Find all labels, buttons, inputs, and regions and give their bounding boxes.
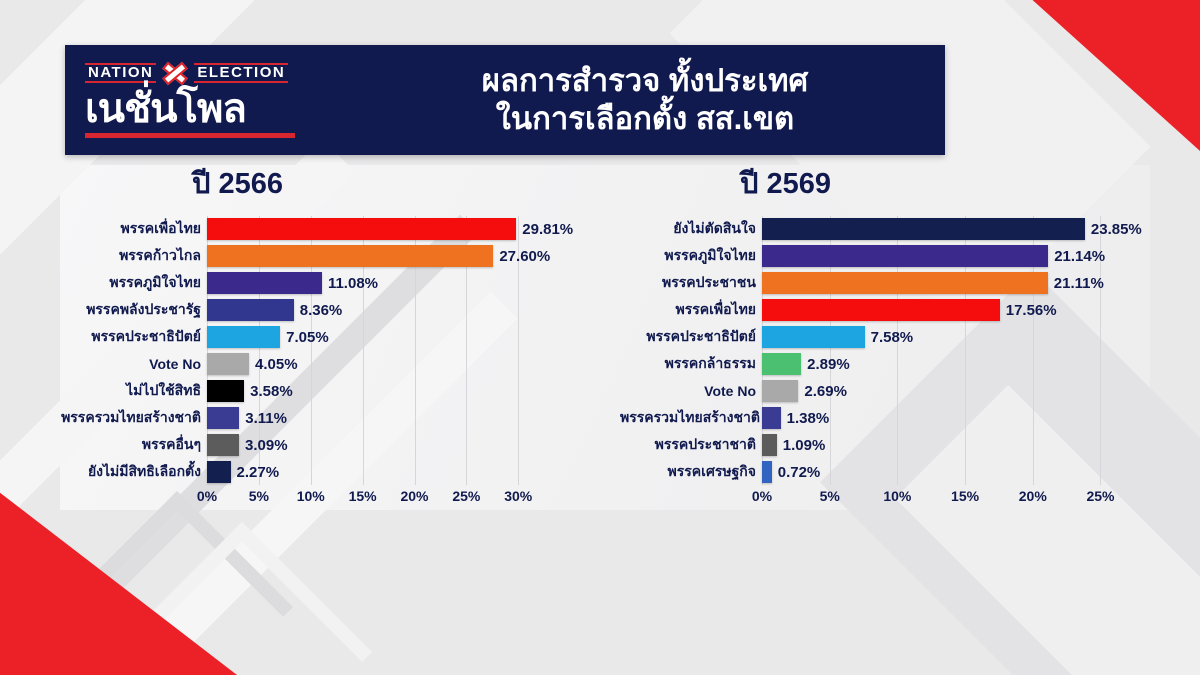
bar-value-label: 3.58%: [250, 383, 293, 400]
x-axis: 0%5%10%15%20%25%30%: [60, 486, 600, 508]
bar-value-label: 1.38%: [787, 410, 830, 427]
chart-title: ปี 2569: [620, 160, 1160, 206]
axis-tick-label: 5%: [249, 488, 269, 504]
bar: [762, 353, 801, 375]
bar: [762, 380, 798, 402]
bar-value-label: 8.36%: [300, 302, 343, 319]
bar-value-label: 7.58%: [871, 329, 914, 346]
bar-category-label: พรรคก้าวไกล: [60, 245, 207, 267]
bar-category-label: พรรคเพื่อไทย: [620, 299, 762, 321]
bar-track: 21.14%: [762, 243, 1160, 269]
plot-area: ยังไม่ตัดสินใจ23.85%พรรคภูมิใจไทย21.14%พ…: [620, 216, 1160, 485]
bar: [762, 245, 1048, 267]
axis-tick-label: 10%: [883, 488, 911, 504]
axis-tick-label: 20%: [400, 488, 428, 504]
chart-title: ปี 2566: [60, 160, 600, 206]
bar-track: 2.89%: [762, 351, 1160, 377]
bar: [762, 299, 1000, 321]
bar-track: 3.58%: [207, 378, 600, 404]
axis-tick-label: 25%: [452, 488, 480, 504]
bar-track: 4.05%: [207, 351, 600, 377]
bar-track: 2.27%: [207, 459, 600, 485]
bar-row: ยังไม่ตัดสินใจ23.85%: [620, 216, 1160, 242]
brand-underline: [85, 133, 295, 138]
x-logo-icon: [162, 62, 188, 84]
bar-row: พรรครวมไทยสร้างชาติ3.11%: [60, 405, 600, 431]
bar-row: พรรคประชาธิปัตย์7.58%: [620, 324, 1160, 350]
bar-rows: ยังไม่ตัดสินใจ23.85%พรรคภูมิใจไทย21.14%พ…: [620, 216, 1160, 485]
bar-track: 21.11%: [762, 270, 1160, 296]
page-title-line2: ในการเลือกตั้ง สส.เขต: [365, 100, 925, 138]
bar-row: Vote No4.05%: [60, 351, 600, 377]
brand-block: NATION ELECTION เนชั่นโพล: [65, 62, 365, 138]
axis-ticks: 0%5%10%15%20%25%: [762, 486, 1160, 508]
bar-row: พรรคภูมิใจไทย21.14%: [620, 243, 1160, 269]
bar-track: 7.05%: [207, 324, 600, 350]
bar: [762, 326, 865, 348]
bar-value-label: 2.27%: [237, 464, 280, 481]
bar-value-label: 2.69%: [804, 383, 847, 400]
bar-row: พรรคเพื่อไทย17.56%: [620, 297, 1160, 323]
bar-value-label: 3.09%: [245, 437, 288, 454]
bar-category-label: พรรคประชาชน: [620, 272, 762, 294]
bar-value-label: 21.11%: [1054, 275, 1104, 292]
bar: [207, 272, 322, 294]
bar-row: พรรคเศรษฐกิจ0.72%: [620, 459, 1160, 485]
bar-row: Vote No2.69%: [620, 378, 1160, 404]
bar: [207, 380, 244, 402]
bar-track: 8.36%: [207, 297, 600, 323]
bar-row: พรรคภูมิใจไทย11.08%: [60, 270, 600, 296]
bar-value-label: 0.72%: [778, 464, 821, 481]
bar-row: ไม่ไปใช้สิทธิ3.58%: [60, 378, 600, 404]
bar: [207, 407, 239, 429]
axis-spacer: [60, 486, 207, 508]
brand-lockup: NATION ELECTION: [85, 62, 365, 84]
bar-category-label: พรรคเศรษฐกิจ: [620, 461, 762, 483]
page-title-line1: ผลการสำรวจ ทั้งประเทศ: [365, 62, 925, 100]
bar-category-label: พรรครวมไทยสร้างชาติ: [620, 407, 762, 429]
bar: [207, 299, 294, 321]
bar: [207, 461, 231, 483]
bar-value-label: 29.81%: [522, 221, 573, 238]
bar-track: 23.85%: [762, 216, 1160, 242]
x-axis: 0%5%10%15%20%25%: [620, 486, 1160, 508]
axis-tick-label: 25%: [1086, 488, 1114, 504]
bar-category-label: พรรคอื่นๆ: [60, 434, 207, 456]
page-title: ผลการสำรวจ ทั้งประเทศ ในการเลือกตั้ง สส.…: [365, 62, 945, 138]
bar-row: พรรคเพื่อไทย29.81%: [60, 216, 600, 242]
header-banner: NATION ELECTION เนชั่นโพล ผลการสำรวจ ทั้…: [65, 45, 945, 155]
bar-track: 7.58%: [762, 324, 1160, 350]
bar-track: 3.11%: [207, 405, 600, 431]
bar: [207, 434, 239, 456]
bar-value-label: 3.11%: [245, 410, 287, 427]
plot-area: พรรคเพื่อไทย29.81%พรรคก้าวไกล27.60%พรรคภ…: [60, 216, 600, 485]
bar: [207, 245, 493, 267]
bar-row: พรรคประชาชน21.11%: [620, 270, 1160, 296]
bar-track: 2.69%: [762, 378, 1160, 404]
bar: [762, 218, 1085, 240]
axis-tick-label: 0%: [197, 488, 217, 504]
axis-tick-label: 15%: [349, 488, 377, 504]
bar-track: 27.60%: [207, 243, 600, 269]
brand-election-label: ELECTION: [194, 63, 288, 83]
bar-category-label: ยังไม่ตัดสินใจ: [620, 218, 762, 240]
bar-value-label: 1.09%: [783, 437, 826, 454]
bar-value-label: 4.05%: [255, 356, 298, 373]
axis-tick-label: 5%: [820, 488, 840, 504]
brand-nation-label: NATION: [85, 63, 156, 83]
bar: [762, 434, 777, 456]
axis-spacer: [620, 486, 762, 508]
bar-category-label: พรรคประชาชาติ: [620, 434, 762, 456]
bar-category-label: พรรคเพื่อไทย: [60, 218, 207, 240]
bar-row: ยังไม่มีสิทธิเลือกตั้ง2.27%: [60, 459, 600, 485]
bar-value-label: 2.89%: [807, 356, 850, 373]
bar-category-label: พรรคพลังประชารัฐ: [60, 299, 207, 321]
axis-tick-label: 15%: [951, 488, 979, 504]
bar-row: พรรครวมไทยสร้างชาติ1.38%: [620, 405, 1160, 431]
bar: [762, 272, 1048, 294]
bar-value-label: 11.08%: [328, 275, 378, 292]
bar: [207, 326, 280, 348]
bar-row: พรรคกล้าธรรม2.89%: [620, 351, 1160, 377]
bar-row: พรรคอื่นๆ3.09%: [60, 432, 600, 458]
bar: [762, 407, 781, 429]
chart-2569: ปี 2569 ยังไม่ตัดสินใจ23.85%พรรคภูมิใจไท…: [620, 160, 1160, 508]
axis-tick-label: 10%: [297, 488, 325, 504]
bar-value-label: 27.60%: [499, 248, 550, 265]
brand-main-label: เนชั่นโพล: [85, 88, 365, 130]
bar-category-label: Vote No: [60, 356, 207, 372]
axis-tick-label: 30%: [504, 488, 532, 504]
bar-value-label: 23.85%: [1091, 221, 1142, 238]
bar-category-label: พรรคประชาธิปัตย์: [620, 326, 762, 348]
bar-value-label: 21.14%: [1054, 248, 1105, 265]
bar-category-label: Vote No: [620, 383, 762, 399]
bar-category-label: ยังไม่มีสิทธิเลือกตั้ง: [60, 461, 207, 483]
bar-track: 29.81%: [207, 216, 600, 242]
bar-rows: พรรคเพื่อไทย29.81%พรรคก้าวไกล27.60%พรรคภ…: [60, 216, 600, 485]
bar-track: 11.08%: [207, 270, 600, 296]
bar: [207, 218, 516, 240]
bar-category-label: พรรคกล้าธรรม: [620, 353, 762, 375]
bar-category-label: ไม่ไปใช้สิทธิ: [60, 380, 207, 402]
bar: [762, 461, 772, 483]
bar-category-label: พรรคภูมิใจไทย: [60, 272, 207, 294]
chart-2566: ปี 2566 พรรคเพื่อไทย29.81%พรรคก้าวไกล27.…: [60, 160, 600, 508]
bar-value-label: 7.05%: [286, 329, 329, 346]
bar-category-label: พรรครวมไทยสร้างชาติ: [60, 407, 207, 429]
bar-track: 1.09%: [762, 432, 1160, 458]
bar-track: 3.09%: [207, 432, 600, 458]
bar-category-label: พรรคประชาธิปัตย์: [60, 326, 207, 348]
axis-ticks: 0%5%10%15%20%25%30%: [207, 486, 600, 508]
bar-row: พรรคประชาชาติ1.09%: [620, 432, 1160, 458]
bar-category-label: พรรคภูมิใจไทย: [620, 245, 762, 267]
bar-track: 17.56%: [762, 297, 1160, 323]
axis-tick-label: 20%: [1019, 488, 1047, 504]
axis-tick-label: 0%: [752, 488, 772, 504]
bar-value-label: 17.56%: [1006, 302, 1057, 319]
bar-track: 0.72%: [762, 459, 1160, 485]
bar-track: 1.38%: [762, 405, 1160, 431]
bar-row: พรรคก้าวไกล27.60%: [60, 243, 600, 269]
bar-row: พรรคประชาธิปัตย์7.05%: [60, 324, 600, 350]
bar: [207, 353, 249, 375]
bar-row: พรรคพลังประชารัฐ8.36%: [60, 297, 600, 323]
